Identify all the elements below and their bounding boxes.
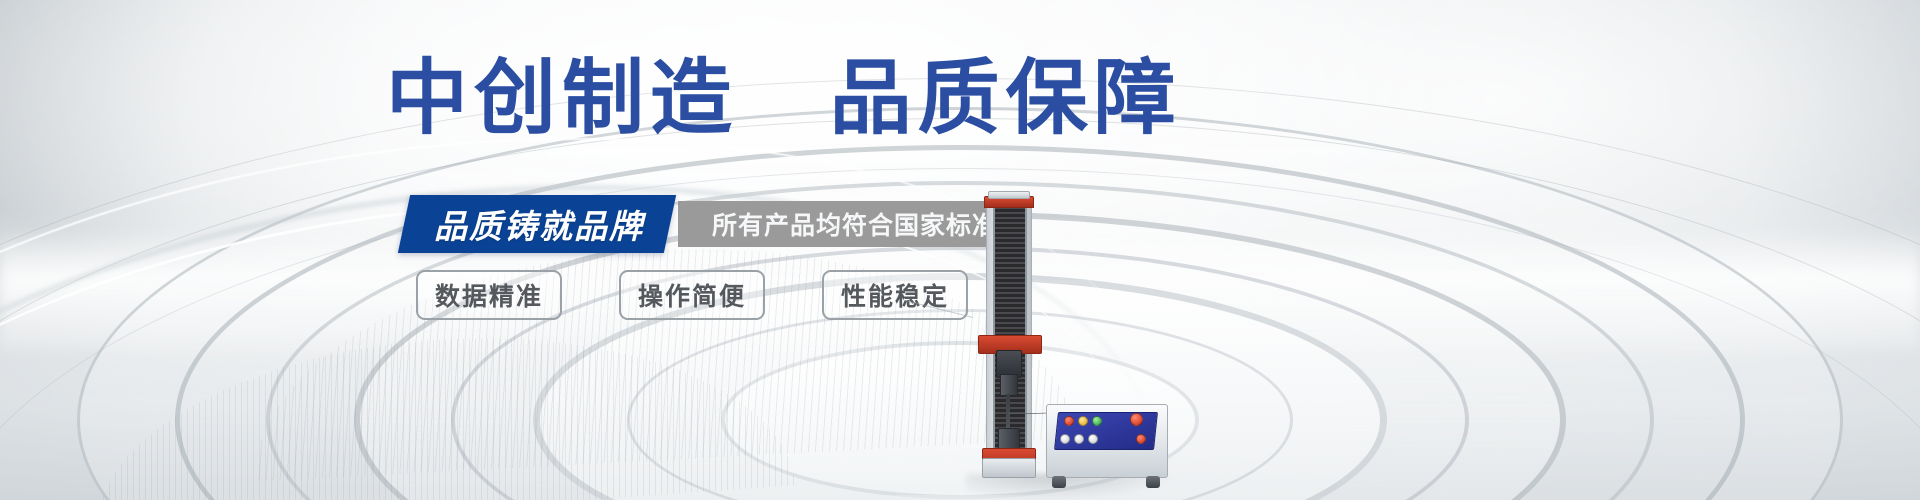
panel-indicator-yellow bbox=[1078, 416, 1088, 426]
panel-knob-red[interactable] bbox=[1136, 434, 1146, 444]
panel-indicator-green bbox=[1092, 416, 1102, 426]
standards-subbar-label: 所有产品均符合国家标准 bbox=[712, 206, 998, 242]
panel-indicator-red bbox=[1064, 416, 1074, 426]
banner-content: 中创制造 品质保障 所有产品均符合国家标准 品质铸就品牌 数据精准 操作简便 性… bbox=[0, 0, 1060, 500]
panel-knob-2[interactable] bbox=[1074, 434, 1084, 444]
slogan-badge: 品质铸就品牌 bbox=[404, 195, 670, 253]
promo-banner: 中创制造 品质保障 所有产品均符合国家标准 品质铸就品牌 数据精准 操作简便 性… bbox=[0, 0, 1920, 500]
panel-knob-1[interactable] bbox=[1060, 434, 1070, 444]
panel-emergency-stop[interactable] bbox=[1130, 413, 1143, 426]
feature-pill-stable-performance[interactable]: 性能稳定 bbox=[822, 270, 968, 320]
headline-part-1: 中创制造 bbox=[386, 53, 738, 144]
feature-pill-label: 数据精准 bbox=[435, 277, 543, 313]
console-foot-right bbox=[1146, 476, 1160, 488]
product-image-tensile-testing-machine bbox=[960, 0, 1210, 500]
right-corner-shading bbox=[1498, 0, 1920, 500]
panel-knob-3[interactable] bbox=[1088, 434, 1098, 444]
console-foot-left bbox=[1052, 476, 1066, 488]
machine-console-feet bbox=[1052, 476, 1160, 488]
machine-column-top-plate bbox=[988, 191, 1030, 199]
feature-pill-easy-operation[interactable]: 操作简便 bbox=[619, 270, 765, 320]
machine-ribbed-column bbox=[993, 204, 1027, 462]
feature-pill-accurate-data[interactable]: 数据精准 bbox=[416, 270, 562, 320]
slogan-badge-label: 品质铸就品牌 bbox=[434, 200, 644, 248]
feature-pill-label: 操作简便 bbox=[638, 277, 746, 313]
feature-pill-group: 数据精准 操作简便 性能稳定 bbox=[416, 270, 968, 320]
machine-foot-base bbox=[982, 458, 1036, 478]
